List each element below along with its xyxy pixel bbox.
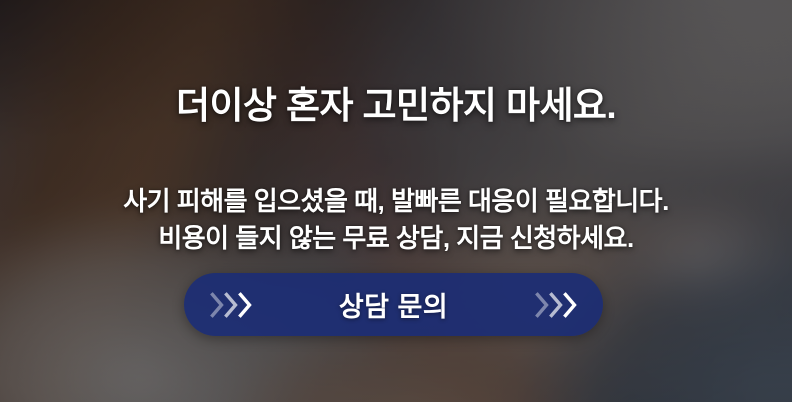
chevron-right-icon	[210, 292, 225, 318]
subheadline-line-1: 사기 피해를 입으셨을 때, 발빠른 대응이 필요합니다.	[0, 183, 792, 220]
promo-banner: 더이상 혼자 고민하지 마세요. 사기 피해를 입으셨을 때, 발빠른 대응이 …	[0, 0, 792, 402]
banner-subheadline: 사기 피해를 입으셨을 때, 발빠른 대응이 필요합니다. 비용이 들지 않는 …	[0, 183, 792, 257]
chevron-right-icon	[563, 292, 578, 318]
consultation-inquiry-button[interactable]: 상담 문의	[184, 273, 603, 336]
consultation-inquiry-label: 상담 문의	[252, 285, 535, 324]
chevron-right-icon	[238, 292, 253, 318]
chevron-right-icon	[535, 292, 550, 318]
chevron-group-left	[210, 292, 252, 318]
chevron-group-right	[535, 292, 577, 318]
chevron-right-icon	[549, 292, 564, 318]
chevron-right-icon	[224, 292, 239, 318]
subheadline-line-2: 비용이 들지 않는 무료 상담, 지금 신청하세요.	[0, 220, 792, 257]
banner-content: 더이상 혼자 고민하지 마세요. 사기 피해를 입으셨을 때, 발빠른 대응이 …	[0, 0, 792, 402]
banner-headline: 더이상 혼자 고민하지 마세요.	[0, 84, 792, 128]
